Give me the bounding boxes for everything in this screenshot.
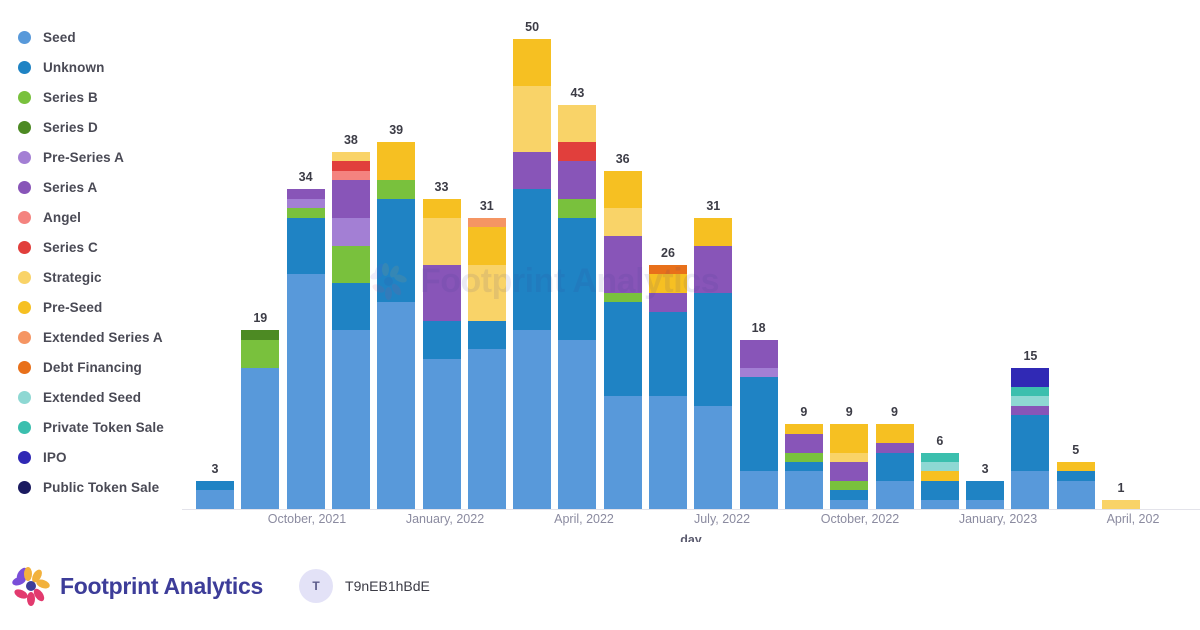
bar-value-label: 18 [752,321,766,335]
legend-swatch-icon [18,421,31,434]
bar-segment[interactable] [1011,387,1049,396]
bar-group[interactable]: 33 [423,199,461,509]
bar-segment[interactable] [513,330,551,509]
bar-segment[interactable] [377,180,415,199]
bar-segment[interactable] [876,424,914,443]
legend-item[interactable]: Series A [18,172,188,202]
x-axis-tick-label: July, 2022 [694,512,750,526]
bar-segment[interactable] [196,481,234,490]
bar-segment[interactable] [513,86,551,152]
bar-segment[interactable] [332,161,370,170]
legend-label: Strategic [43,270,102,285]
bar-segment[interactable] [694,246,732,293]
bar-segment[interactable] [423,218,461,265]
brand[interactable]: Footprint Analytics [12,567,263,605]
bar-segment[interactable] [287,189,325,198]
bar-group[interactable]: 6 [921,453,959,509]
bar-segment[interactable] [1102,500,1140,509]
user-name: T9nEB1hBdE [345,578,430,594]
bar-stack[interactable] [241,330,279,509]
bar-group[interactable]: 38 [332,152,370,509]
bar-segment[interactable] [513,39,551,86]
bar-segment[interactable] [604,293,642,302]
bar-stack[interactable] [740,340,778,509]
bar-segment[interactable] [332,152,370,161]
legend-item[interactable]: Debt Financing [18,352,188,382]
bar-segment[interactable] [241,340,279,368]
bar-segment[interactable] [830,490,868,499]
legend-swatch-icon [18,91,31,104]
bar-segment[interactable] [740,471,778,509]
bar-value-label: 33 [435,180,449,194]
bar-segment[interactable] [649,396,687,509]
legend-swatch-icon [18,211,31,224]
bar-stack[interactable] [513,39,551,509]
bar-group[interactable]: 18 [740,340,778,509]
bar-stack[interactable] [558,105,596,509]
bar-stack[interactable] [649,265,687,509]
bar-group[interactable]: 34 [287,189,325,509]
bar-segment[interactable] [377,302,415,509]
bar-segment[interactable] [694,218,732,246]
bar-segment[interactable] [649,274,687,293]
bar-group[interactable]: 31 [694,218,732,509]
bar-segment[interactable] [830,500,868,509]
bar-segment[interactable] [830,424,868,452]
bar-segment[interactable] [558,105,596,143]
bar-stack[interactable] [876,424,914,509]
bar-group[interactable]: 31 [468,218,506,509]
legend-item[interactable]: Angel [18,202,188,232]
legend-label: Series C [43,240,98,255]
bar-segment[interactable] [196,490,234,509]
bar-segment[interactable] [468,218,506,227]
legend-item[interactable]: Public Token Sale [18,472,188,502]
bar-segment[interactable] [785,434,823,453]
legend-swatch-icon [18,301,31,314]
legend-swatch-icon [18,151,31,164]
legend-label: Seed [43,30,76,45]
bar-segment[interactable] [332,171,370,180]
bar-segment[interactable] [740,368,778,377]
bar-value-label: 36 [616,152,630,166]
bar-group[interactable]: 3 [196,481,234,509]
legend-item[interactable]: Unknown [18,52,188,82]
legend-item[interactable]: Pre-Seed [18,292,188,322]
legend-item[interactable]: Series B [18,82,188,112]
bar-segment[interactable] [785,462,823,471]
bar-segment[interactable] [558,218,596,340]
bar-segment[interactable] [241,368,279,509]
brand-name: Footprint Analytics [60,573,263,600]
bar-segment[interactable] [332,218,370,246]
bar-segment[interactable] [740,340,778,368]
bar-value-label: 43 [570,86,584,100]
x-axis-tick-label: January, 2023 [959,512,1037,526]
legend-swatch-icon [18,61,31,74]
bar-group[interactable]: 5 [1057,462,1095,509]
bar-value-label: 39 [389,123,403,137]
bar-stack[interactable] [1057,462,1095,509]
bar-segment[interactable] [287,208,325,217]
x-axis-tick-label: April, 202 [1107,512,1160,526]
bar-stack[interactable] [287,189,325,509]
bar-segment[interactable] [423,321,461,359]
bar-segment[interactable] [287,199,325,208]
bar-value-label: 1 [1118,481,1125,495]
bar-stack[interactable] [830,424,868,509]
x-axis-tick-label: October, 2022 [821,512,900,526]
legend-swatch-icon [18,361,31,374]
legend-label: Pre-Series A [43,150,124,165]
bar-segment[interactable] [649,312,687,397]
x-axis-line [182,509,1200,510]
x-axis-tick-label: January, 2022 [406,512,484,526]
legend-item[interactable]: Pre-Series A [18,142,188,172]
bar-segment[interactable] [604,302,642,396]
bar-value-label: 31 [706,199,720,213]
bar-segment[interactable] [468,265,506,321]
bar-segment[interactable] [377,199,415,302]
bar-group[interactable]: 36 [604,171,642,509]
legend-swatch-icon [18,331,31,344]
plot-area: 3193438393331504336263118999631551 [182,18,1200,510]
bar-segment[interactable] [785,424,823,433]
bar-segment[interactable] [876,481,914,509]
bar-stack[interactable] [423,199,461,509]
x-axis-tick-label: April, 2022 [554,512,614,526]
footer-bar: Footprint Analytics T T9nEB1hBdE [0,542,1200,630]
bar-segment[interactable] [966,500,1004,509]
legend-label: Series D [43,120,98,135]
bar-segment[interactable] [649,265,687,274]
bar-segment[interactable] [1057,462,1095,471]
bar-value-label: 6 [936,434,943,448]
footprint-logo-icon [12,567,50,605]
legend-label: Debt Financing [43,360,142,375]
bar-stack[interactable] [1011,368,1049,509]
bar-segment[interactable] [921,471,959,480]
bar-stack[interactable] [468,218,506,509]
bar-group[interactable]: 26 [649,265,687,509]
legend-swatch-icon [18,271,31,284]
legend-item[interactable]: Seed [18,22,188,52]
bar-segment[interactable] [558,142,596,161]
bar-segment[interactable] [740,377,778,471]
bar-segment[interactable] [830,462,868,481]
bar-group[interactable]: 9 [830,424,868,509]
bar-group[interactable]: 1 [1102,500,1140,509]
bar-segment[interactable] [604,171,642,209]
bar-segment[interactable] [876,443,914,452]
bar-segment[interactable] [694,406,732,509]
bar-value-label: 3 [212,462,219,476]
legend-item[interactable]: Strategic [18,262,188,292]
bar-segment[interactable] [332,180,370,218]
bar-stack[interactable] [694,218,732,509]
bar-stack[interactable] [785,424,823,509]
bar-group[interactable]: 39 [377,142,415,509]
legend-item[interactable]: Series C [18,232,188,262]
bar-segment[interactable] [558,161,596,199]
bar-segment[interactable] [332,246,370,284]
legend-swatch-icon [18,391,31,404]
legend-label: Private Token Sale [43,420,164,435]
bar-value-label: 3 [982,462,989,476]
bar-segment[interactable] [604,236,642,292]
bar-value-label: 38 [344,133,358,147]
bar-segment[interactable] [921,462,959,471]
bar-segment[interactable] [468,321,506,349]
bar-segment[interactable] [830,453,868,462]
bar-value-label: 50 [525,20,539,34]
bar-segment[interactable] [1011,415,1049,471]
legend-label: Angel [43,210,81,225]
bar-stack[interactable] [377,142,415,509]
bar-stack[interactable] [332,152,370,509]
bar-segment[interactable] [1011,471,1049,509]
legend-label: Series A [43,180,97,195]
bar-group[interactable]: 9 [876,424,914,509]
legend-item[interactable]: Series D [18,112,188,142]
legend-label: IPO [43,450,67,465]
x-axis-ticks: October, 2021January, 2022April, 2022Jul… [182,512,1200,532]
legend-swatch-icon [18,241,31,254]
legend-label: Series B [43,90,98,105]
bar-segment[interactable] [423,265,461,321]
bar-segment[interactable] [287,274,325,509]
bar-value-label: 34 [299,170,313,184]
bar-segment[interactable] [468,227,506,265]
legend-swatch-icon [18,181,31,194]
bar-value-label: 15 [1023,349,1037,363]
bar-segment[interactable] [785,453,823,462]
bar-segment[interactable] [604,396,642,509]
bar-segment[interactable] [785,471,823,509]
bar-segment[interactable] [1057,471,1095,480]
bar-segment[interactable] [1011,396,1049,405]
bar-value-label: 9 [891,405,898,419]
bar-group[interactable]: 3 [966,481,1004,509]
bar-value-label: 9 [800,405,807,419]
bar-segment[interactable] [332,283,370,330]
bar-value-label: 9 [846,405,853,419]
bar-group[interactable]: 43 [558,105,596,509]
bar-segment[interactable] [558,199,596,218]
legend-label: Public Token Sale [43,480,159,495]
legend-label: Unknown [43,60,104,75]
chart-page: SeedUnknownSeries BSeries DPre-Series AS… [0,0,1200,630]
bar-stack[interactable] [966,481,1004,509]
bar-segment[interactable] [1011,406,1049,415]
bar-segment[interactable] [558,340,596,509]
bar-segment[interactable] [830,481,868,490]
bar-segment[interactable] [332,330,370,509]
bar-segment[interactable] [377,142,415,180]
bar-segment[interactable] [921,481,959,500]
legend-item[interactable]: IPO [18,442,188,472]
avatar: T [299,569,333,603]
bar-value-label: 19 [253,311,267,325]
legend-swatch-icon [18,481,31,494]
bar-group[interactable]: 9 [785,424,823,509]
bar-segment[interactable] [921,500,959,509]
bar-segment[interactable] [513,189,551,330]
legend-item[interactable]: Private Token Sale [18,412,188,442]
legend-swatch-icon [18,121,31,134]
bar-segment[interactable] [876,453,914,481]
bar-segment[interactable] [604,208,642,236]
bar-segment[interactable] [241,330,279,339]
legend-item[interactable]: Extended Seed [18,382,188,412]
bar-stack[interactable] [921,453,959,509]
bar-group[interactable]: 19 [241,330,279,509]
bar-value-label: 5 [1072,443,1079,457]
bar-segment[interactable] [966,481,1004,500]
bar-segment[interactable] [423,359,461,509]
bar-group[interactable]: 50 [513,39,551,509]
bar-segment[interactable] [1057,481,1095,509]
bar-stack[interactable] [196,481,234,509]
legend-label: Pre-Seed [43,300,102,315]
legend-swatch-icon [18,451,31,464]
bar-value-label: 26 [661,246,675,260]
legend-label: Extended Seed [43,390,141,405]
bar-segment[interactable] [1011,368,1049,387]
x-axis-tick-label: October, 2021 [268,512,347,526]
legend-swatch-icon [18,31,31,44]
user-chip[interactable]: T T9nEB1hBdE [299,569,430,603]
bar-segment[interactable] [287,218,325,274]
bar-segment[interactable] [468,349,506,509]
bar-stack[interactable] [1102,500,1140,509]
chart-legend: SeedUnknownSeries BSeries DPre-Series AS… [18,22,188,502]
bar-stack[interactable] [604,171,642,509]
legend-item[interactable]: Extended Series A [18,322,188,352]
bar-segment[interactable] [921,453,959,462]
bar-value-label: 31 [480,199,494,213]
bar-segment[interactable] [513,152,551,190]
bar-segment[interactable] [423,199,461,218]
bar-segment[interactable] [694,293,732,406]
legend-label: Extended Series A [43,330,163,345]
bar-group[interactable]: 15 [1011,368,1049,509]
bar-segment[interactable] [649,293,687,312]
